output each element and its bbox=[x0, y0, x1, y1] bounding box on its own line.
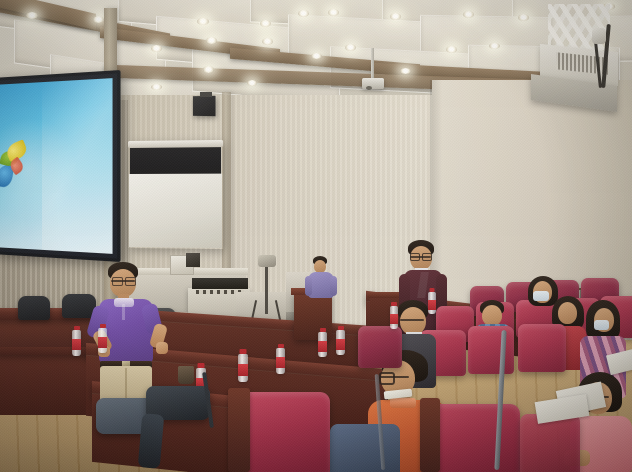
coffee-cup bbox=[178, 366, 194, 384]
ceiling-downlight bbox=[489, 43, 500, 49]
water-bottle bbox=[276, 348, 285, 374]
ceiling-downlight bbox=[446, 46, 457, 53]
bottle-cap bbox=[430, 288, 435, 292]
ceiling-downlight bbox=[26, 12, 38, 19]
glasses-lens bbox=[125, 277, 136, 286]
pulldown-screen-surface bbox=[129, 174, 222, 248]
head bbox=[400, 307, 426, 335]
bottle-label bbox=[238, 364, 248, 376]
water-bottle bbox=[72, 330, 81, 356]
ceiling-downlight bbox=[151, 45, 162, 52]
projector-mount-pole bbox=[371, 48, 374, 79]
ceiling-downlight bbox=[345, 44, 356, 51]
glasses-lens bbox=[422, 253, 432, 261]
display-screen bbox=[0, 78, 113, 254]
bottle-cap bbox=[278, 344, 284, 348]
water-bottle bbox=[336, 330, 345, 355]
pulldown-screen-case bbox=[128, 140, 223, 148]
bottle-label bbox=[98, 337, 107, 348]
wall-speaker-bracket bbox=[200, 92, 212, 97]
glasses-lens bbox=[410, 253, 420, 261]
theater-seat bbox=[518, 324, 566, 372]
bottle-cap bbox=[74, 326, 80, 330]
ceiling-downlight bbox=[390, 13, 401, 20]
ceiling-downlight bbox=[298, 10, 309, 17]
office-chair bbox=[18, 296, 50, 320]
ceiling-downlight bbox=[400, 68, 411, 74]
face-mask bbox=[594, 320, 609, 330]
tripod-stand bbox=[265, 262, 268, 314]
desk-panel-upper bbox=[0, 316, 96, 347]
polo-collar bbox=[390, 398, 416, 408]
wall-display bbox=[0, 70, 121, 262]
ceiling-downlight bbox=[311, 53, 322, 59]
ceiling-downlight bbox=[93, 16, 104, 23]
ceiling-downlight bbox=[197, 18, 209, 25]
bottle-cap bbox=[198, 363, 205, 368]
water-bottle bbox=[390, 306, 398, 329]
bottle-label bbox=[428, 300, 436, 310]
ceiling-downlight bbox=[262, 38, 273, 45]
theater-seat-foreground bbox=[240, 392, 330, 472]
water-bottle bbox=[428, 292, 436, 314]
theater-seat-foreground bbox=[430, 404, 520, 472]
ceiling-downlight bbox=[328, 9, 339, 16]
projector-lens-icon bbox=[366, 86, 372, 90]
polo-placket bbox=[122, 304, 125, 320]
glasses-lens bbox=[112, 277, 123, 286]
bottle-cap bbox=[100, 324, 106, 328]
bottle-label bbox=[276, 357, 285, 368]
av-rack-equipment bbox=[192, 278, 248, 289]
theater-seat bbox=[358, 326, 402, 368]
water-bottle bbox=[318, 332, 327, 357]
bottle-label bbox=[318, 341, 327, 352]
eyeglasses-icon bbox=[400, 319, 424, 321]
bottle-label bbox=[72, 339, 81, 350]
water-bottle bbox=[98, 328, 107, 353]
water-bottle bbox=[238, 354, 248, 382]
bottle-label bbox=[390, 314, 398, 324]
screen-glare bbox=[42, 78, 112, 254]
hand-right bbox=[156, 342, 168, 354]
face-mask bbox=[533, 291, 549, 301]
bottle-label bbox=[336, 339, 345, 350]
wall-speaker bbox=[193, 96, 216, 116]
pulldown-screen-blackband bbox=[130, 146, 221, 175]
head bbox=[482, 305, 502, 326]
arm bbox=[305, 276, 312, 296]
ceiling-downlight bbox=[151, 84, 162, 90]
backpack-strap bbox=[138, 413, 165, 469]
seat-armrest bbox=[228, 388, 250, 472]
wall-pilaster bbox=[222, 92, 231, 287]
ceiling-downlight bbox=[518, 14, 529, 21]
ceiling-downlight bbox=[247, 80, 257, 86]
bottle-cap bbox=[240, 349, 247, 354]
ceiling-downlight bbox=[203, 66, 214, 73]
right-wall bbox=[432, 80, 632, 310]
tripod-head bbox=[258, 255, 276, 267]
ceiling-downlight bbox=[260, 20, 271, 27]
person-attendee-jeans-legs bbox=[330, 424, 400, 472]
arm bbox=[330, 276, 337, 296]
bottle-cap bbox=[338, 326, 344, 330]
bottle-cap bbox=[391, 302, 397, 306]
ceiling-downlight bbox=[463, 11, 474, 18]
bottle-cap bbox=[320, 328, 326, 332]
ceiling-downlight bbox=[206, 37, 217, 44]
theater-seat bbox=[468, 326, 514, 374]
av-monitor-icon bbox=[186, 253, 200, 267]
theater-seat-foreground bbox=[520, 414, 580, 472]
conference-room-photo: Interior photograph of a university lect… bbox=[0, 0, 632, 472]
glasses-lens bbox=[379, 372, 395, 385]
head bbox=[558, 302, 577, 324]
seat-armrest bbox=[420, 398, 440, 472]
lift-connector-icon bbox=[592, 28, 606, 44]
pulldown-screen bbox=[128, 140, 223, 249]
